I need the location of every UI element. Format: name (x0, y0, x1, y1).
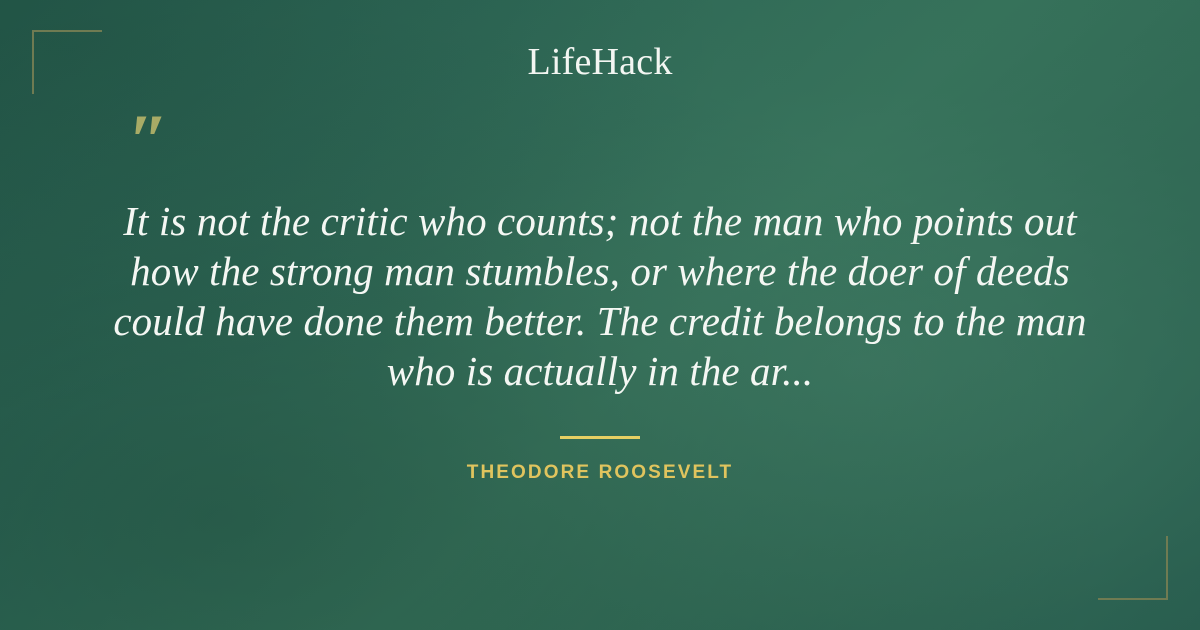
quotation-mark-icon: ″ (128, 104, 167, 178)
brand-logo: LifeHack (0, 40, 1200, 84)
quote-card: LifeHack ″ It is not the critic who coun… (0, 0, 1200, 630)
corner-bracket-bottom-right (1098, 536, 1168, 600)
attribution-divider (560, 436, 640, 439)
quote-author: THEODORE ROOSEVELT (0, 462, 1200, 484)
quote-text: It is not the critic who counts; not the… (100, 196, 1100, 396)
quote-line: how the strong man stumbles, or where th… (100, 246, 1100, 296)
quote-line: who is actually in the ar... (100, 346, 1100, 396)
quote-line: It is not the critic who counts; not the… (100, 196, 1100, 246)
quote-line: could have done them better. The credit … (100, 296, 1100, 346)
